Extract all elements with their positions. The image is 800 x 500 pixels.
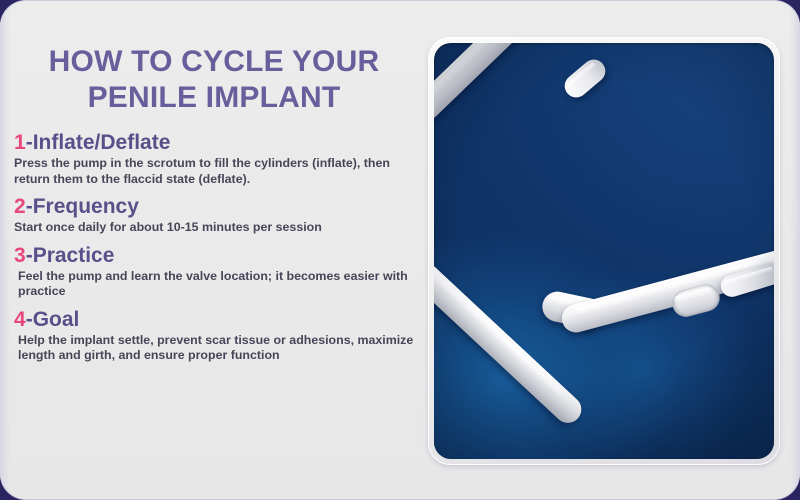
step-dash-2: - <box>26 195 33 218</box>
step-number-4: 4 <box>14 308 26 331</box>
page-title-line-1: HOW TO CYCLE YOUR <box>20 44 408 80</box>
right-edge-strip <box>790 0 800 500</box>
step-item-2: 2-Frequency Start once daily for about 1… <box>14 194 414 236</box>
step-dash-1: - <box>26 131 33 154</box>
text-column: HOW TO CYCLE YOUR PENILE IMPLANT 1-Infla… <box>14 44 414 371</box>
step-item-3: 3-Practice Feel the pump and learn the v… <box>14 243 414 300</box>
step-heading-1: 1-Inflate/Deflate <box>14 130 414 155</box>
step-number-3: 3 <box>14 244 26 267</box>
step-item-1: 1-Inflate/Deflate Press the pump in the … <box>14 130 414 187</box>
photo-vignette <box>434 43 774 459</box>
step-title-3: Practice <box>33 244 115 267</box>
step-body-1: Press the pump in the scrotum to fill th… <box>14 156 410 187</box>
step-heading-3: 3-Practice <box>14 243 414 268</box>
page-title-line-2: PENILE IMPLANT <box>20 80 408 116</box>
step-body-2: Start once daily for about 10-15 minutes… <box>14 220 410 236</box>
page-title: HOW TO CYCLE YOUR PENILE IMPLANT <box>14 44 414 116</box>
left-edge-strip <box>0 0 10 500</box>
step-body-4: Help the implant settle, prevent scar ti… <box>14 333 414 364</box>
step-item-4: 4-Goal Help the implant settle, prevent … <box>14 307 414 364</box>
step-number-1: 1 <box>14 131 26 154</box>
step-title-4: Goal <box>33 308 80 331</box>
steps-list: 1-Inflate/Deflate Press the pump in the … <box>14 130 414 364</box>
step-title-1: Inflate/Deflate <box>33 131 171 154</box>
step-dash-4: - <box>26 308 33 331</box>
photo-frame <box>428 37 780 465</box>
step-number-2: 2 <box>14 195 26 218</box>
step-body-3: Feel the pump and learn the valve locati… <box>14 269 414 300</box>
step-heading-4: 4-Goal <box>14 307 414 332</box>
implant-photo <box>434 43 774 459</box>
infographic-card: HOW TO CYCLE YOUR PENILE IMPLANT 1-Infla… <box>0 0 800 500</box>
step-dash-3: - <box>26 244 33 267</box>
step-heading-2: 2-Frequency <box>14 194 414 219</box>
step-title-2: Frequency <box>33 195 139 218</box>
